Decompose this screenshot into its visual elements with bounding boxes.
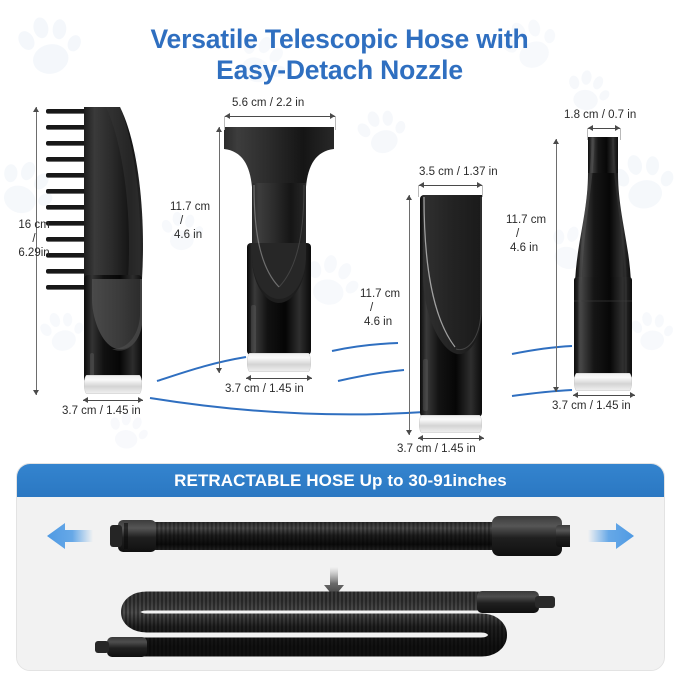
medium-flat-base-ring — [419, 415, 482, 433]
comb-nozzle-base-ring — [84, 375, 142, 394]
title-line-2: Easy-Detach Nozzle — [0, 55, 679, 86]
flat-wide-base-label: 3.7 cm / 1.45 in — [225, 383, 304, 396]
tick — [418, 185, 419, 197]
retractable-hose-banner-text: RETRACTABLE HOSE Up to 30-91inches — [174, 471, 507, 491]
medium-flat-nozzle-illustration — [412, 193, 512, 423]
medium-flat-top-rule — [419, 185, 482, 186]
tick — [620, 128, 621, 140]
product-row: 16 cm / 6.29in 3.7 cm / 1.45 in — [0, 95, 679, 460]
cone-top-rule — [588, 128, 620, 129]
cone-height-rule — [556, 139, 557, 392]
medium-flat-top-label: 3.5 cm / 1.37 in — [419, 166, 498, 179]
tick — [587, 128, 588, 140]
flat-wide-top-label: 5.6 cm / 2.2 in — [232, 97, 304, 110]
medium-flat-height-label: 11.7 cm / 4.6 in — [360, 287, 406, 329]
retractable-hose-body — [17, 497, 664, 670]
flat-wide-height-rule — [219, 127, 220, 373]
cone-base-label: 3.7 cm / 1.45 in — [552, 400, 631, 413]
flat-wide-base-rule — [246, 378, 312, 379]
retracted-coiled-hose — [89, 589, 609, 663]
flat-wide-nozzle-illustration — [218, 125, 348, 375]
medium-flat-base-rule — [418, 438, 484, 439]
title-line-1: Versatile Telescopic Hose with — [151, 24, 529, 54]
cone-top-label: 1.8 cm / 0.7 in — [564, 109, 636, 122]
flat-wide-height-label: 11.7 cm / 4.6 in — [170, 200, 216, 242]
extended-straight-hose — [110, 511, 570, 561]
flat-wide-nozzle-base-ring — [247, 353, 311, 372]
comb-height-label: 16 cm / 6.29in — [8, 218, 60, 260]
infographic-canvas: Versatile Telescopic Hose with Easy-Deta… — [0, 0, 679, 679]
cone-nozzle-illustration — [562, 135, 662, 385]
cone-base-rule — [573, 395, 635, 396]
medium-flat-height-rule — [409, 195, 410, 435]
flat-wide-top-rule — [225, 116, 335, 117]
medium-flat-base-label: 3.7 cm / 1.45 in — [397, 443, 476, 456]
tick — [335, 116, 336, 130]
retractable-hose-panel: RETRACTABLE HOSE Up to 30-91inches — [16, 463, 665, 671]
cone-height-label: 11.7 cm / 4.6 in — [506, 213, 552, 255]
arrow-right-icon — [588, 519, 634, 553]
comb-base-label: 3.7 cm / 1.45 in — [62, 405, 141, 418]
comb-nozzle-illustration — [46, 103, 176, 403]
tick — [482, 185, 483, 197]
retractable-hose-banner: RETRACTABLE HOSE Up to 30-91inches — [17, 464, 664, 497]
tick — [224, 116, 225, 130]
comb-base-rule — [83, 400, 143, 401]
arrow-left-icon — [47, 519, 93, 553]
cone-nozzle-base-ring — [574, 373, 632, 391]
page-title: Versatile Telescopic Hose with Easy-Deta… — [0, 24, 679, 86]
